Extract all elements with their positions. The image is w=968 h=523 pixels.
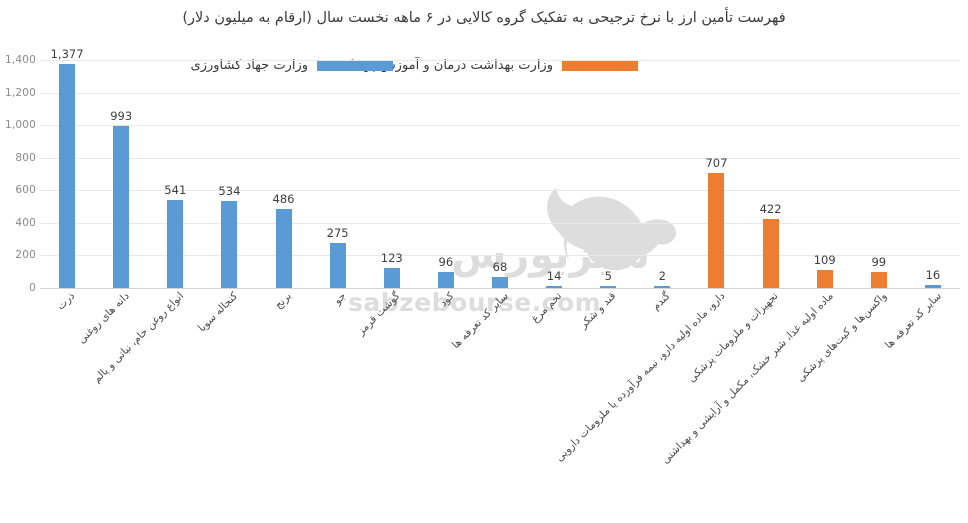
bar-slot[interactable]: 486 xyxy=(254,60,314,288)
bar[interactable] xyxy=(113,126,129,288)
x-axis-labels: ذرتدانه های روغنیانواع روغن خام، نباتی و… xyxy=(40,290,960,520)
bar-value-label: 707 xyxy=(705,156,727,170)
bar-slot[interactable]: 541 xyxy=(145,60,205,288)
y-axis-tick-label: 800 xyxy=(0,152,36,164)
bar[interactable] xyxy=(492,277,508,288)
bar-value-label: 486 xyxy=(273,192,295,206)
bars-group: 1,37799354153448627512396681452707422109… xyxy=(40,60,960,288)
bar-value-label: 993 xyxy=(110,109,132,123)
bar[interactable] xyxy=(438,272,454,288)
bar[interactable] xyxy=(167,200,183,288)
y-axis-tick-label: 200 xyxy=(0,249,36,261)
x-axis-category-label: انواع روغن خام، نباتی و پالم xyxy=(91,290,186,385)
bar-slot[interactable]: 422 xyxy=(741,60,801,288)
chart-container: فهرست تأمین ارز با نرخ ترجیحی به تفکیک گ… xyxy=(0,0,968,523)
bar[interactable] xyxy=(384,268,400,288)
bar-slot[interactable]: 534 xyxy=(199,60,259,288)
bar-value-label: 534 xyxy=(218,184,240,198)
x-axis-category-label: دانه های روغنی xyxy=(76,290,132,346)
bar[interactable] xyxy=(654,286,670,288)
y-axis-tick-label: 1,400 xyxy=(0,54,36,66)
bar[interactable] xyxy=(925,285,941,288)
chart-title: فهرست تأمین ارز با نرخ ترجیحی به تفکیک گ… xyxy=(0,10,968,26)
x-axis-category-label: سایر کد تعرفه ها xyxy=(449,290,510,351)
bar-value-label: 16 xyxy=(926,268,941,282)
bar-slot[interactable]: 99 xyxy=(849,60,909,288)
bar-value-label: 541 xyxy=(164,183,186,197)
bar-slot[interactable]: 123 xyxy=(362,60,422,288)
bar-value-label: 109 xyxy=(814,253,836,267)
x-axis-category-label: جو xyxy=(331,290,348,307)
x-axis-category-label: تجهیزات و ملزومات پزشکی xyxy=(686,290,781,385)
x-axis-category-label: کنجاله سویا xyxy=(196,290,240,334)
gridline xyxy=(40,288,960,289)
bar-value-label: 14 xyxy=(547,269,562,283)
x-axis-category-label: واکسن‌ها و کیت‌های پزشکی xyxy=(795,290,890,385)
y-axis-tick-label: 1,000 xyxy=(0,119,36,131)
bar-value-label: 422 xyxy=(760,202,782,216)
y-axis-tick-label: 400 xyxy=(0,217,36,229)
bar-slot[interactable]: 14 xyxy=(524,60,584,288)
bar[interactable] xyxy=(600,286,616,288)
bar-slot[interactable]: 993 xyxy=(91,60,151,288)
bar-value-label: 2 xyxy=(659,269,666,283)
bar-slot[interactable]: 68 xyxy=(470,60,530,288)
x-axis-category-label: گوشت قرمز xyxy=(355,290,402,337)
bar-slot[interactable]: 109 xyxy=(795,60,855,288)
bar[interactable] xyxy=(276,209,292,288)
x-axis-category-label: قند و شکر xyxy=(578,290,619,331)
bar[interactable] xyxy=(221,201,237,288)
y-axis-tick-label: 600 xyxy=(0,184,36,196)
y-axis: 02004006008001,0001,2001,400 xyxy=(0,60,36,288)
bar[interactable] xyxy=(59,64,75,288)
bar-value-label: 123 xyxy=(381,251,403,265)
bar-slot[interactable]: 96 xyxy=(416,60,476,288)
x-axis-category-label: کود xyxy=(437,290,456,309)
bar[interactable] xyxy=(871,272,887,288)
bar-value-label: 68 xyxy=(493,260,508,274)
x-axis-category-label: برنج xyxy=(273,290,295,312)
bar-value-label: 275 xyxy=(327,226,349,240)
x-axis-category-label: گندم xyxy=(650,290,673,313)
bar[interactable] xyxy=(708,173,724,288)
y-axis-tick-label: 0 xyxy=(0,282,36,294)
bar[interactable] xyxy=(763,219,779,288)
bar[interactable] xyxy=(546,286,562,288)
x-axis-category-label: تخم مرغ xyxy=(529,290,564,325)
bar-slot[interactable]: 707 xyxy=(686,60,746,288)
bar[interactable] xyxy=(330,243,346,288)
bar-value-label: 96 xyxy=(439,255,454,269)
y-axis-tick-label: 1,200 xyxy=(0,87,36,99)
x-axis-category-label: ذرت xyxy=(55,290,77,312)
x-axis-category-label: سایر کد تعرفه ها xyxy=(882,290,943,351)
bar-slot[interactable]: 5 xyxy=(578,60,638,288)
bar[interactable] xyxy=(817,270,833,288)
bar-value-label: 1,377 xyxy=(51,47,84,61)
bar-value-label: 5 xyxy=(605,269,612,283)
bar-slot[interactable]: 275 xyxy=(308,60,368,288)
bar-value-label: 99 xyxy=(871,255,886,269)
bar-slot[interactable]: 1,377 xyxy=(37,60,97,288)
bar-slot[interactable]: 16 xyxy=(903,60,963,288)
bar-slot[interactable]: 2 xyxy=(632,60,692,288)
